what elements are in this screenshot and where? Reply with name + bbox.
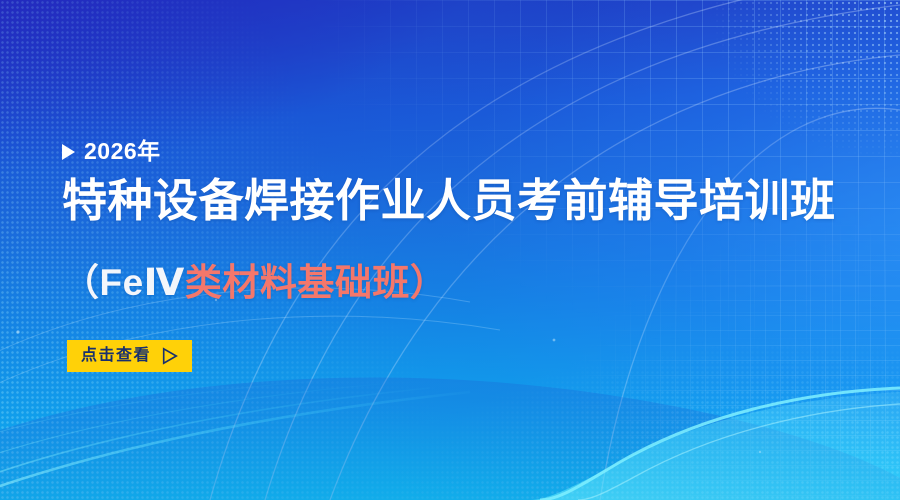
subtitle-open-paren: （ (62, 262, 100, 303)
page-title: 特种设备焊接作业人员考前辅导培训班 (62, 177, 862, 225)
banner-content: 2026年 特种设备焊接作业人员考前辅导培训班 （FeⅣ类材料基础班） 点击查看 (62, 0, 862, 500)
play-triangle-outline-icon (161, 347, 179, 365)
page-subtitle: （FeⅣ类材料基础班） (62, 263, 862, 304)
subtitle-category: 类材料基础班 (185, 262, 410, 303)
subtitle-material-code: FeⅣ (100, 262, 185, 303)
eyebrow: 2026年 (62, 140, 862, 163)
triangle-right-solid-icon (62, 144, 75, 160)
eyebrow-year: 2026年 (84, 140, 161, 163)
promo-banner: 2026年 特种设备焊接作业人员考前辅导培训班 （FeⅣ类材料基础班） 点击查看 (0, 0, 900, 500)
subtitle-close-paren: ） (410, 262, 448, 303)
view-details-label: 点击查看 (81, 348, 151, 364)
view-details-button[interactable]: 点击查看 (67, 340, 192, 372)
